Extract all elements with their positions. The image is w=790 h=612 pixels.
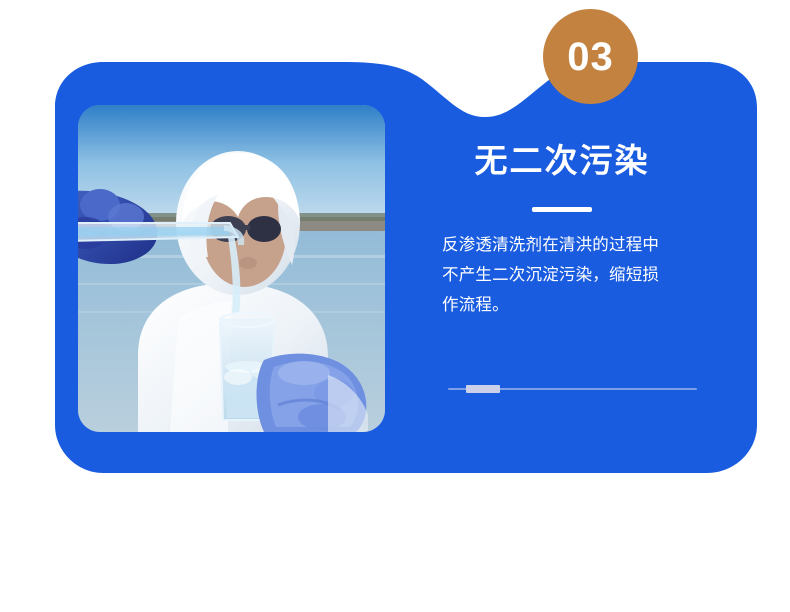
progress-slider[interactable] [448,385,697,393]
feature-title: 无二次污染 [412,140,712,181]
feature-photo [78,105,385,432]
feature-content: 无二次污染 反渗透清洗剂在清洪的过程中 不产生二次沉淀污染，缩短损 作流程。 [412,140,712,320]
description-line-2: 不产生二次沉淀污染，缩短损 [442,266,659,284]
description-line-3: 作流程。 [442,296,509,314]
lab-photo-illustration [78,105,385,432]
slide-canvas: 03 [0,0,790,612]
description-line-1: 反渗透清洗剂在清洪的过程中 [442,236,659,254]
step-number-badge: 03 [543,9,638,104]
slider-handle[interactable] [466,385,500,393]
step-number-text: 03 [567,37,614,77]
title-underline [532,207,592,212]
feature-description: 反渗透清洗剂在清洪的过程中 不产生二次沉淀污染，缩短损 作流程。 [412,230,712,320]
